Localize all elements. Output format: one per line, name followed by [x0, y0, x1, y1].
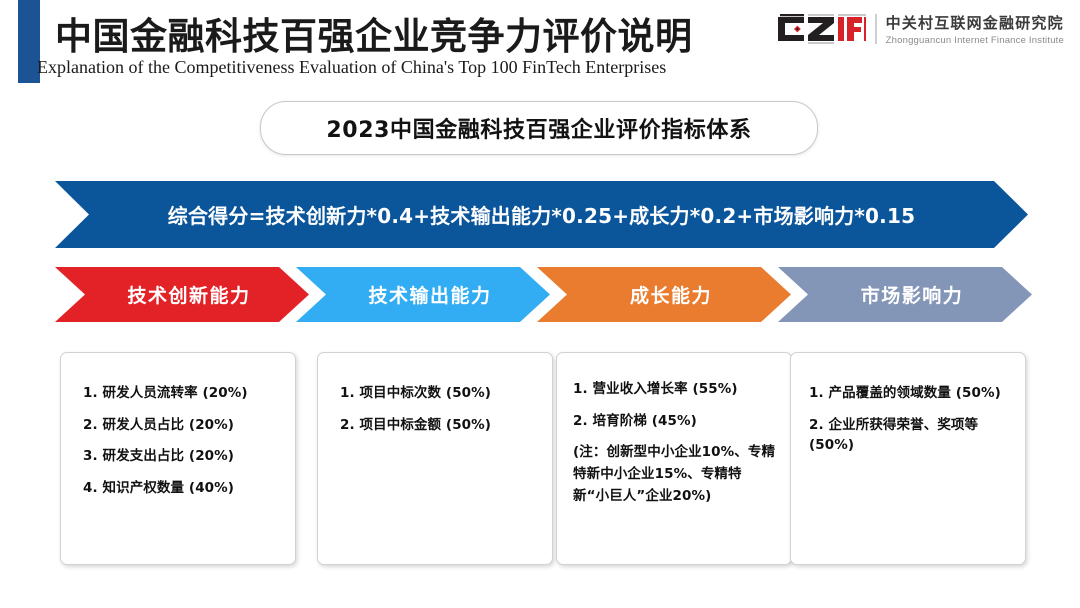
card-item: 1. 产品覆盖的领域数量 (50%): [809, 383, 1011, 404]
indicator-card-technology-output: 1. 项目中标次数 (50%) 2. 项目中标金额 (50%): [317, 352, 553, 565]
card-item: 1. 营业收入增长率 (55%): [573, 379, 777, 400]
score-formula-banner: 综合得分=技术创新力*0.4+技术输出能力*0.25+成长力*0.2+市场影响力…: [55, 181, 1028, 248]
card-item: 2. 项目中标金额 (50%): [340, 415, 538, 436]
chevron-label-1: 技术输出能力: [368, 281, 491, 308]
chevron-label-0: 技术创新能力: [127, 281, 250, 308]
card-item: 3. 研发支出占比 (20%): [83, 446, 281, 467]
indicator-card-technology-innovation: 1. 研发人员流转率 (20%) 2. 研发人员占比 (20%) 3. 研发支出…: [60, 352, 296, 565]
institute-logo: 中关村互联网金融研究院 Zhongguancun Internet Financ…: [778, 8, 1064, 50]
card-item: 1. 项目中标次数 (50%): [340, 383, 538, 404]
logo-name-english: Zhongguancun Internet Finance Institute: [886, 35, 1064, 46]
dimension-chevron-row: 技术创新能力 技术输出能力 成长能力 市场影响力: [55, 267, 1030, 322]
logo-text-block: 中关村互联网金融研究院 Zhongguancun Internet Financ…: [886, 12, 1064, 46]
slide-header: 中国金融科技百强企业竞争力评价说明 Explanation of the Com…: [0, 0, 1080, 92]
card-item: 2. 研发人员占比 (20%): [83, 415, 281, 436]
card-item: 2. 企业所获得荣誉、奖项等 (50%): [809, 415, 1011, 456]
chevron-label-3: 市场影响力: [861, 281, 964, 308]
page-title-chinese: 中国金融科技百强企业竞争力评价说明: [55, 6, 693, 60]
indicator-card-growth: 1. 营业收入增长率 (55%) 2. 培育阶梯 (45%) (注：创新型中小企…: [556, 352, 792, 565]
card-item: 4. 知识产权数量 (40%): [83, 478, 281, 499]
indicator-card-row: 1. 研发人员流转率 (20%) 2. 研发人员占比 (20%) 3. 研发支出…: [60, 352, 1025, 570]
logo-name-chinese: 中关村互联网金融研究院: [886, 12, 1064, 33]
logo-divider: [875, 14, 877, 44]
card-item: 1. 研发人员流转率 (20%): [83, 383, 281, 404]
card-item: 2. 培育阶梯 (45%): [573, 411, 777, 432]
chevron-growth: 成长能力: [537, 267, 791, 322]
card-note: (注：创新型中小企业10%、专精特新中小企业15%、专精特新“小巨人”企业20%…: [573, 442, 777, 508]
page-title-english: Explanation of the Competitiveness Evalu…: [37, 57, 666, 78]
subtitle-pill: 2023中国金融科技百强企业评价指标体系: [260, 101, 818, 155]
czifi-logo-icon: [778, 14, 866, 44]
score-formula-text: 综合得分=技术创新力*0.4+技术输出能力*0.25+成长力*0.2+市场影响力…: [168, 200, 915, 229]
subtitle-text: 2023中国金融科技百强企业评价指标体系: [326, 112, 751, 144]
indicator-card-market-influence: 1. 产品覆盖的领域数量 (50%) 2. 企业所获得荣誉、奖项等 (50%): [790, 352, 1026, 565]
chevron-market-influence: 市场影响力: [778, 267, 1032, 322]
chevron-technology-output: 技术输出能力: [296, 267, 550, 322]
chevron-label-2: 成长能力: [630, 281, 712, 308]
chevron-technology-innovation: 技术创新能力: [55, 267, 309, 322]
